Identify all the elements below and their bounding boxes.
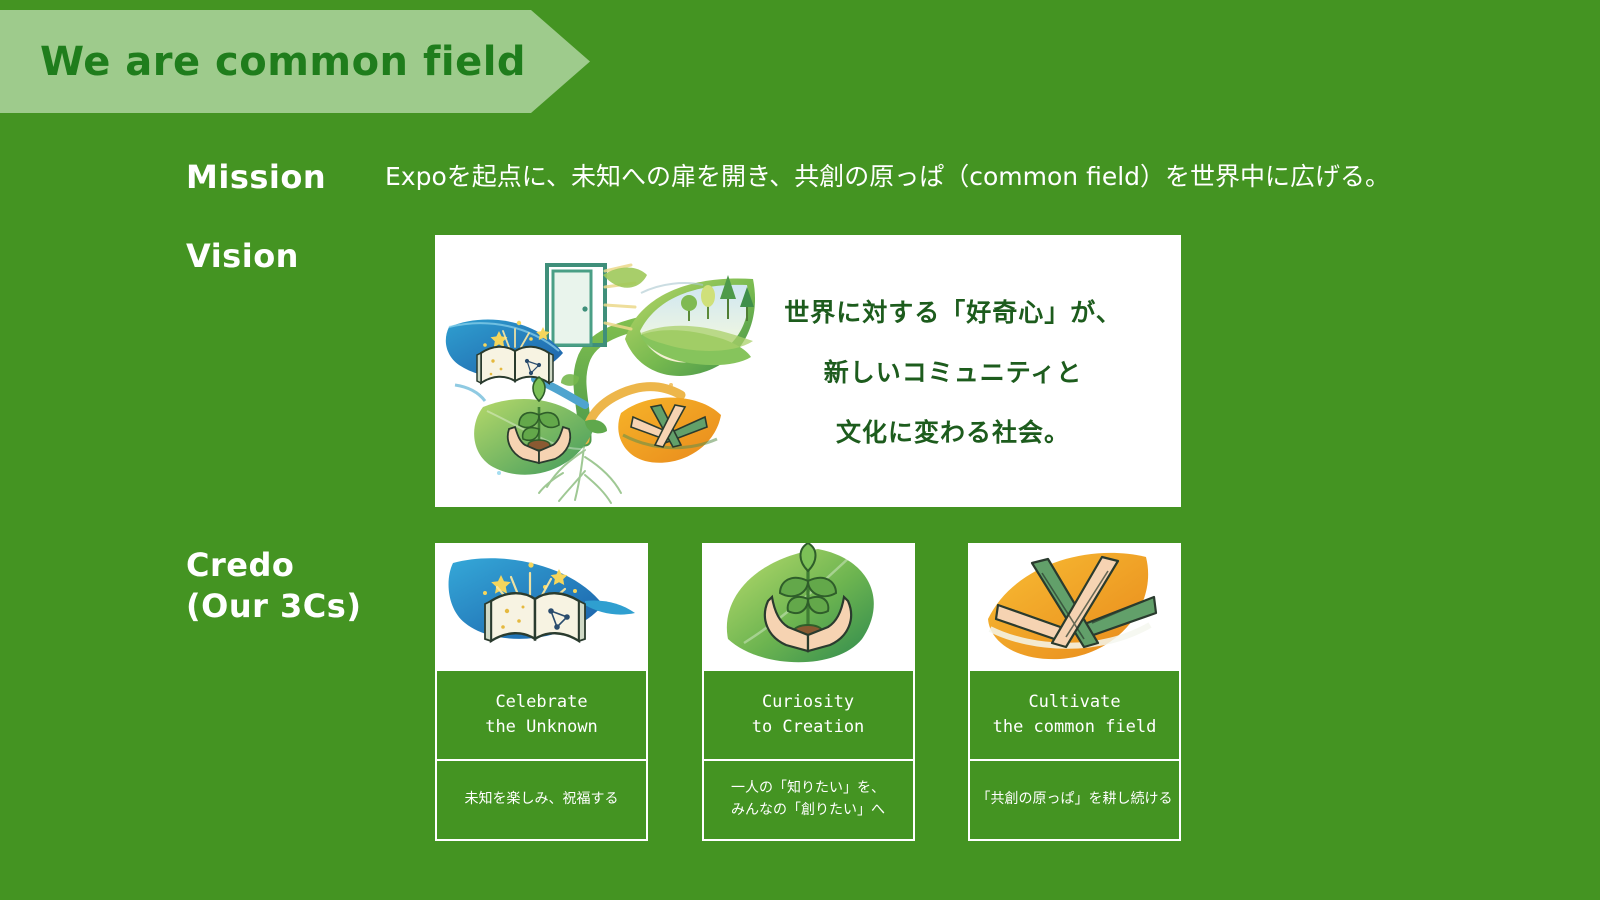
vision-line-2: 新しいコミュニティと — [824, 353, 1083, 389]
header-banner: We are common field — [0, 10, 590, 113]
credo-card-title-line1: Celebrate — [495, 690, 587, 716]
vision-line-1: 世界に対する「好奇心」が、 — [784, 293, 1122, 329]
credo-card-title-line2: the common field — [993, 715, 1157, 741]
vision-label: Vision — [186, 236, 299, 277]
vision-panel: 世界に対する「好奇心」が、 新しいコミュニティと 文化に変わる社会。 — [435, 235, 1181, 507]
credo-card-subtitle: 未知を楽しみ、祝福する — [437, 761, 646, 839]
credo-label-line2: (Our 3Cs) — [186, 586, 361, 627]
vision-statement: 世界に対する「好奇心」が、 新しいコミュニティと 文化に変わる社会。 — [765, 293, 1181, 449]
credo-card-subtitle-line1: 未知を楽しみ、祝福する — [465, 789, 619, 811]
credo-card-subtitle: 「共創の原っぱ」を耕し続ける — [970, 761, 1179, 839]
credo-card-title: Cultivate the common field — [970, 671, 1179, 761]
credo-card-title: Celebrate the Unknown — [437, 671, 646, 761]
orange-leaf-interlocking-hands-icon — [968, 543, 1181, 671]
credo-card-subtitle-line2: みんなの「創りたい」へ — [731, 800, 885, 822]
credo-card-title-line1: Curiosity — [762, 690, 854, 716]
credo-card-subtitle: 一人の「知りたい」を、 みんなの「創りたい」へ — [704, 761, 913, 839]
mission-label: Mission — [186, 157, 326, 198]
vision-line-3: 文化に変わる社会。 — [836, 413, 1070, 449]
credo-card[interactable]: Celebrate the Unknown 未知を楽しみ、祝福する — [435, 543, 648, 841]
credo-card-subtitle-line1: 「共創の原っぱ」を耕し続ける — [977, 789, 1173, 811]
credo-card[interactable]: Curiosity to Creation 一人の「知りたい」を、 みんなの「創… — [702, 543, 915, 841]
credo-card-title: Curiosity to Creation — [704, 671, 913, 761]
credo-card-body: Celebrate the Unknown 未知を楽しみ、祝福する — [435, 671, 648, 841]
mission-statement: Expoを起点に、未知への扉を開き、共創の原っぱ（common field）を世… — [385, 160, 1390, 194]
credo-card[interactable]: Cultivate the common field 「共創の原っぱ」を耕し続け… — [968, 543, 1181, 841]
credo-card-subtitle-line1: 一人の「知りたい」を、 — [731, 778, 885, 800]
credo-card-title-line2: to Creation — [752, 715, 865, 741]
credo-label: Credo (Our 3Cs) — [186, 545, 361, 627]
credo-label-line1: Credo — [186, 546, 294, 584]
blue-leaf-open-book-stars-icon — [435, 543, 648, 671]
credo-card-body: Curiosity to Creation 一人の「知りたい」を、 みんなの「創… — [702, 671, 915, 841]
credo-card-title-line2: the Unknown — [485, 715, 598, 741]
green-leaf-hands-sprout-icon — [702, 543, 915, 671]
credo-card-body: Cultivate the common field 「共創の原っぱ」を耕し続け… — [968, 671, 1181, 841]
credo-card-list: Celebrate the Unknown 未知を楽しみ、祝福する — [435, 543, 1181, 841]
vision-vine-illustration — [435, 235, 765, 507]
credo-card-title-line1: Cultivate — [1028, 690, 1120, 716]
page-title: We are common field — [40, 39, 526, 85]
